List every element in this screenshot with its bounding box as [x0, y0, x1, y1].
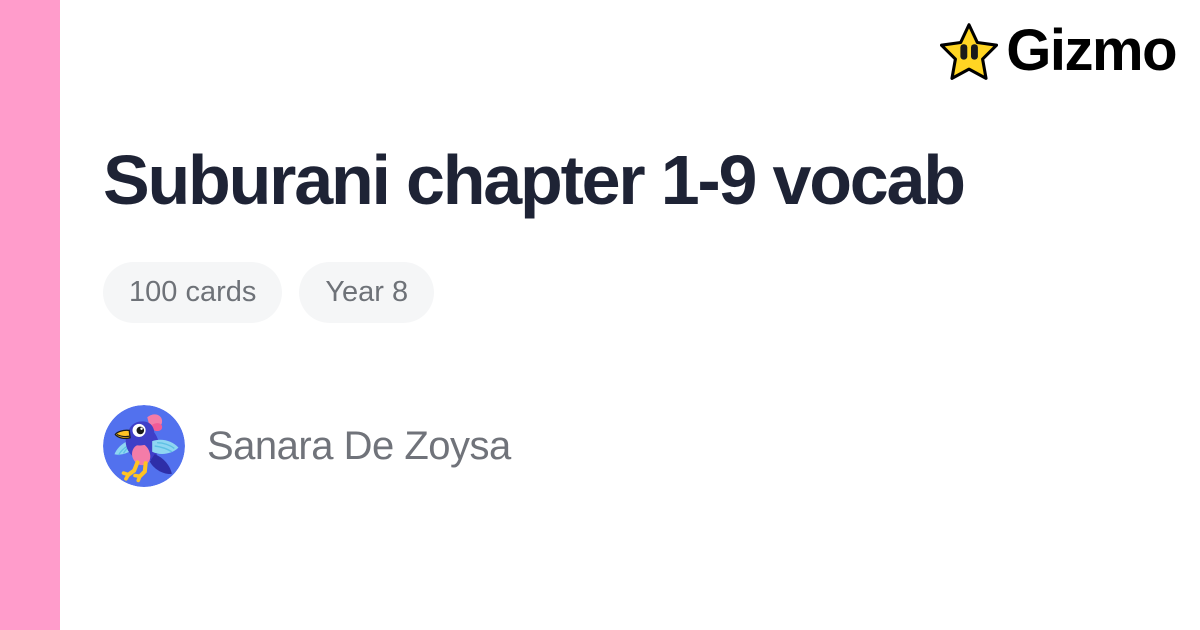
author-name: Sanara De Zoysa: [207, 426, 511, 466]
deck-meta-badges: 100 cards Year 8: [103, 262, 1163, 323]
side-accent-band: [0, 0, 60, 630]
badge-card-count: 100 cards: [103, 262, 282, 323]
deck-header: Suburani chapter 1-9 vocab 100 cards Yea…: [103, 0, 1163, 630]
badge-year-level: Year 8: [299, 262, 434, 323]
avatar: [103, 405, 185, 487]
author-row[interactable]: Sanara De Zoysa: [103, 405, 1163, 487]
page-title: Suburani chapter 1-9 vocab: [103, 143, 1163, 219]
